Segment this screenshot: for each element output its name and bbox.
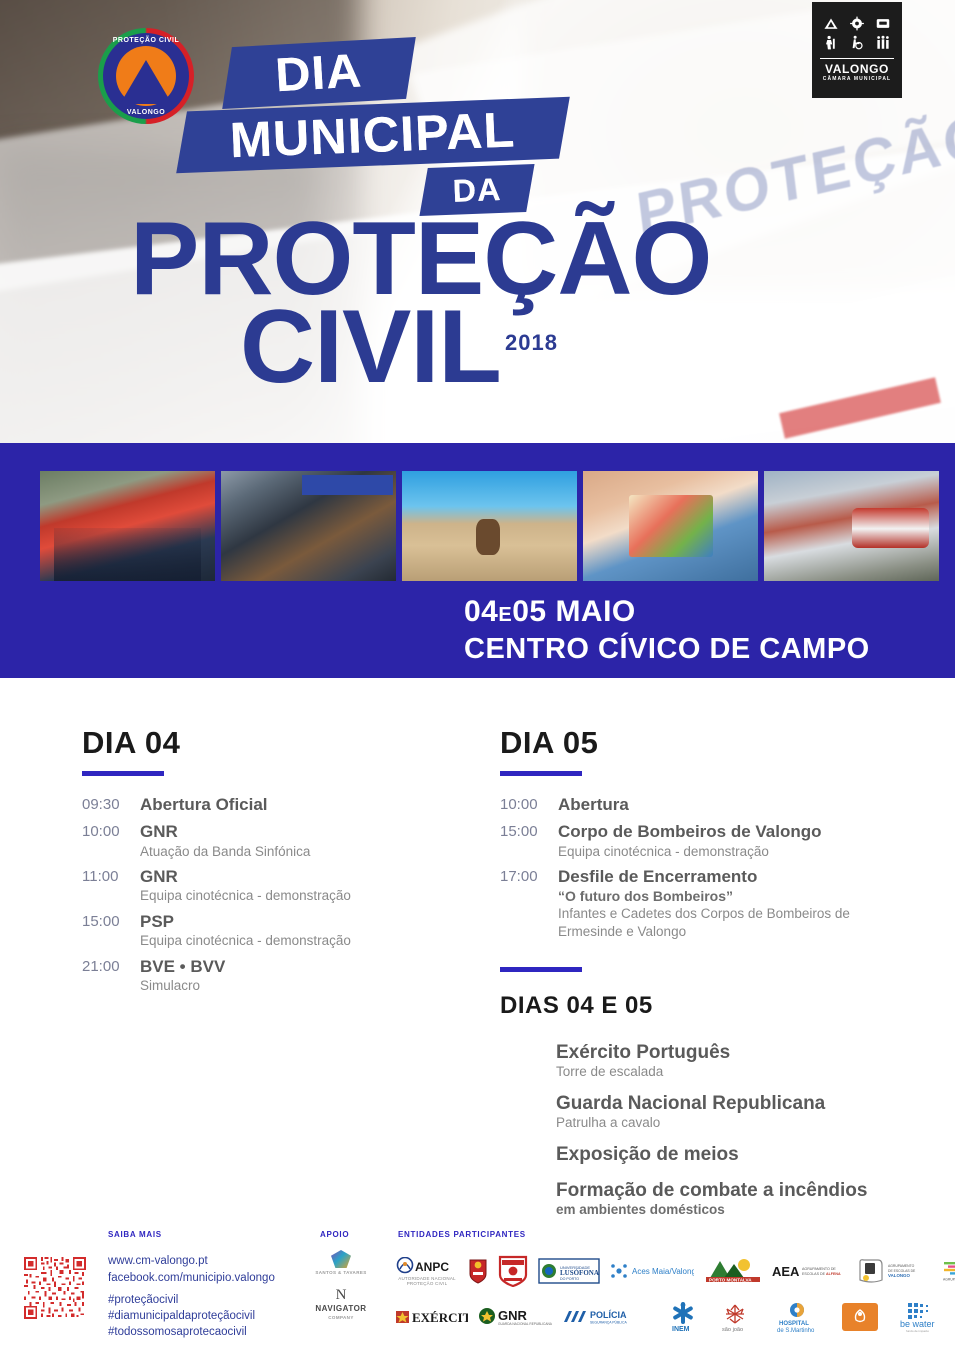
exercito-logo: EXÉRCITO <box>396 1308 468 1326</box>
footer-label-entidades: ENTIDADES PARTICIPANTES <box>398 1230 526 1239</box>
svg-text:de S.Martinho: de S.Martinho <box>777 1328 815 1333</box>
apoio-logo-label: NAVIGATOR <box>305 1304 377 1313</box>
aea-mark: AEA AGRUPAMENTO DE ESCOLAS DE ALFENA <box>772 1263 848 1279</box>
gem-icon <box>331 1250 351 1268</box>
svg-text:be water: be water <box>900 1319 935 1329</box>
valongo-subtitle: CÂMARA MUNICIPAL <box>820 76 894 82</box>
navigator-logo: N NAVIGATOR COMPANY <box>305 1287 377 1320</box>
photo-firefighters-truck <box>40 471 215 581</box>
item-description-cont: Ermesinde e Valongo <box>558 923 920 941</box>
both-days-heading: DIAS 04 E 05 <box>500 992 920 1020</box>
footer-label-apoio: APOIO <box>320 1230 349 1239</box>
title-banner-municipal-text: MUNICIPAL <box>229 101 516 169</box>
apoio-logo-sub: COMPANY <box>305 1315 377 1320</box>
item-time: 09:30 <box>82 794 140 815</box>
schedule-item: 11:00 GNR Equipa cinotécnica - demonstra… <box>82 866 462 905</box>
title-banner-dia-text: DIA <box>274 43 364 102</box>
photo-date-band: 04E05 MAIO CENTRO CÍVICO DE CAMPO <box>0 443 955 678</box>
protecao-civil-logo: PROTEÇÃO CIVIL VALONGO <box>98 28 194 124</box>
svg-text:GUARDA NACIONAL REPUBLICANA: GUARDA NACIONAL REPUBLICANA <box>498 1322 552 1326</box>
aces-mark: Aces Maia/Valongo <box>610 1262 694 1280</box>
event-date: 04E05 MAIO <box>464 595 636 629</box>
entidades-row-1: ANPC AUTORIDADE NACIONAL PROTEÇÃO CIVIL <box>396 1248 951 1294</box>
photo-strip <box>40 471 939 581</box>
valongo-pictogram-grid <box>820 16 894 50</box>
bombeiros-ermesinde-logo <box>498 1255 528 1287</box>
item-description: Equipa cinotécnica - demonstração <box>140 887 462 905</box>
porto-montalva-mark: PORTO MONTALVA <box>704 1256 762 1286</box>
tent-icon <box>822 16 840 31</box>
item-title: Abertura <box>558 794 920 815</box>
svg-text:HOSPITAL: HOSPITAL <box>779 1321 809 1327</box>
item-time: 17:00 <box>500 866 558 941</box>
item-description: Simulacro <box>140 977 462 995</box>
bombeiros-valongo-logo <box>468 1257 488 1285</box>
item-description-quote: “O futuro dos Bombeiros” <box>558 887 920 905</box>
exercito-mark: EXÉRCITO <box>396 1308 468 1326</box>
anpc-mark: ANPC <box>396 1257 458 1275</box>
entidade-sub: AUTORIDADE NACIONAL PROTEÇÃO CIVIL <box>396 1276 458 1286</box>
item-description: Equipa cinotécnica - demonstração <box>140 932 462 950</box>
gnr-logo: GNR GUARDA NACIONAL REPUBLICANA <box>478 1307 552 1327</box>
item-title: GNR <box>140 866 462 887</box>
svg-text:AGRUPAMENTO DE: AGRUPAMENTO DE <box>802 1267 836 1271</box>
item-title: BVE • BVV <box>140 956 462 977</box>
svg-text:AGRUPAMENTO DE ESCOLAS DE CAMP: AGRUPAMENTO DE ESCOLAS DE CAMPO <box>943 1278 955 1282</box>
day05-accent-rule <box>500 771 582 776</box>
svg-text:ANPC: ANPC <box>415 1260 449 1274</box>
schedule-item: 15:00 PSP Equipa cinotécnica - demonstra… <box>82 911 462 950</box>
both-days-item: Formação de combate a incêndios em ambie… <box>556 1180 920 1217</box>
event-location: CENTRO CÍVICO DE CAMPO <box>464 633 870 666</box>
photo-horse-patrol <box>402 471 577 581</box>
aces-maia-valongo-logo: Aces Maia/Valongo <box>610 1262 694 1280</box>
event-date-month: MAIO <box>555 595 635 628</box>
day04-accent-rule <box>82 771 164 776</box>
bombeiros-valongo-mark <box>468 1257 488 1285</box>
day04-heading: DIA 04 <box>82 725 462 761</box>
hashtag-item: #todossomosaprotecaocivil <box>108 1324 255 1340</box>
be-water-mark: be water fundo de impacto <box>892 1301 950 1333</box>
sao-joao-logo: são joão <box>714 1301 756 1333</box>
schedule-item: 17:00 Desfile de Encerramento “O futuro … <box>500 866 920 941</box>
svg-text:Aces Maia/Valongo: Aces Maia/Valongo <box>632 1267 694 1276</box>
footer-links: www.cm-valongo.pt facebook.com/municipio… <box>108 1253 275 1286</box>
svg-text:EXÉRCITO: EXÉRCITO <box>412 1310 468 1325</box>
worker-icon <box>822 35 840 50</box>
item-time: 11:00 <box>82 866 140 905</box>
svg-text:DO PORTO: DO PORTO <box>560 1277 579 1281</box>
svg-text:ESCOLAS DE ALFENA: ESCOLAS DE ALFENA <box>802 1272 841 1276</box>
svg-text:fundo de impacto: fundo de impacto <box>906 1329 929 1333</box>
entidades-logos-grid: ANPC AUTORIDADE NACIONAL PROTEÇÃO CIVIL <box>396 1248 951 1340</box>
wheelchair-icon <box>848 35 866 50</box>
gear-icon <box>848 16 866 31</box>
item-description: Torre de escalada <box>556 1064 920 1079</box>
item-title: Guarda Nacional Republicana <box>556 1093 920 1115</box>
sao-joao-mark: são joão <box>715 1301 755 1333</box>
hospital-s-martinho-logo: HOSPITAL de S.Martinho <box>766 1301 827 1333</box>
agrupamento-escolas-valongo-logo: AGRUPAMENTO DE ESCOLAS DE VALONGO <box>858 1258 930 1284</box>
svg-text:PORTO MONTALVA: PORTO MONTALVA <box>709 1277 752 1282</box>
website-link[interactable]: www.cm-valongo.pt <box>108 1253 275 1270</box>
item-title: Exposição de meios <box>556 1144 920 1166</box>
item-time: 15:00 <box>500 821 558 860</box>
event-date-conjunction: E <box>498 604 512 626</box>
main-title-line2: CIVIL <box>240 300 501 396</box>
aea-logo: AEA AGRUPAMENTO DE ESCOLAS DE ALFENA <box>772 1263 848 1279</box>
apoio-logo-label: SANTOS & TAVARES <box>305 1270 377 1275</box>
universidade-lusofona-logo: UNIVERSIDADE LUSÓFONA DO PORTO <box>538 1258 600 1284</box>
schedule-column-day05: DIA 05 10:00 Abertura 15:00 Corpo de Bom… <box>500 725 920 1231</box>
both-days-item: Exposição de meios <box>556 1144 920 1166</box>
quinta-mark <box>840 1301 880 1333</box>
both-days-accent-rule <box>500 967 582 972</box>
day05-heading: DIA 05 <box>500 725 920 761</box>
both-days-item: Guarda Nacional Republicana Patrulha a c… <box>556 1093 920 1130</box>
event-date-day1: 04 <box>464 595 498 628</box>
photo-police-dogs <box>221 471 396 581</box>
logo-bottom-text: VALONGO <box>98 109 194 116</box>
item-description: em ambientes domésticos <box>556 1202 920 1217</box>
valongo-municipal-badge: VALONGO CÂMARA MUNICIPAL <box>812 2 902 98</box>
facebook-link[interactable]: facebook.com/municipio.valongo <box>108 1270 275 1287</box>
item-description: Infantes e Cadetes dos Corpos de Bombeir… <box>558 905 920 923</box>
item-time: 15:00 <box>82 911 140 950</box>
porto-montalva-logo: PORTO MONTALVA <box>704 1256 762 1286</box>
svg-text:LUSÓFONA: LUSÓFONA <box>560 1269 599 1277</box>
svg-text:GNR: GNR <box>498 1308 528 1323</box>
item-title: Abertura Oficial <box>140 794 462 815</box>
svg-text:SEGURANÇA PÚBLICA: SEGURANÇA PÚBLICA <box>590 1320 627 1325</box>
item-title: Corpo de Bombeiros de Valongo <box>558 821 920 842</box>
lusofona-mark: UNIVERSIDADE LUSÓFONA DO PORTO <box>538 1258 600 1284</box>
item-time: 10:00 <box>82 821 140 860</box>
item-title: Exército Português <box>556 1042 920 1064</box>
both-days-list: Exército Português Torre de escalada Gua… <box>556 1042 920 1217</box>
hero-section: PROTEÇÃO CIVIL PROTEÇÃO CIVIL VALONGO VA… <box>0 0 955 443</box>
footer-hashtags: #proteçãocivil #diamunicipaldaproteçãoci… <box>108 1292 255 1340</box>
camara-santos-logo: SANTOS & TAVARES <box>305 1250 377 1275</box>
item-title: PSP <box>140 911 462 932</box>
item-title: GNR <box>140 821 462 842</box>
valongo-name: VALONGO <box>820 58 894 76</box>
navigator-monogram-icon: N <box>305 1287 377 1304</box>
event-date-day2: 05 <box>512 595 546 628</box>
title-banner-dia: DIA <box>222 37 416 109</box>
policia-mark: POLÍCIA SEGURANÇA PÚBLICA <box>562 1308 652 1326</box>
ae-valongo-mark: AGRUPAMENTO DE ESCOLAS DE VALONGO <box>858 1258 930 1284</box>
people-icon <box>874 35 892 50</box>
schedule-item: 09:30 Abertura Oficial <box>82 794 462 815</box>
schedule-item: 15:00 Corpo de Bombeiros de Valongo Equi… <box>500 821 920 860</box>
svg-text:AGRUPAMENTO: AGRUPAMENTO <box>888 1264 915 1268</box>
item-description: Atuação da Banda Sinfónica <box>140 843 462 861</box>
entidades-row-2: EXÉRCITO GNR GUARDA NACIONAL REPUBLICANA <box>396 1294 951 1340</box>
schedule-item: 21:00 BVE • BVV Simulacro <box>82 956 462 995</box>
svg-text:INEM: INEM <box>672 1326 690 1333</box>
schedule-item: 10:00 GNR Atuação da Banda Sinfónica <box>82 821 462 860</box>
bombeiros-ermesinde-mark <box>498 1255 528 1287</box>
gnr-mark: GNR GUARDA NACIONAL REPUBLICANA <box>478 1307 552 1327</box>
inem-mark: INEM <box>663 1301 703 1333</box>
item-description: Patrulha a cavalo <box>556 1115 920 1130</box>
schedule-column-day04: DIA 04 09:30 Abertura Oficial 10:00 GNR … <box>82 725 462 1000</box>
logo-triangle-icon <box>120 60 172 104</box>
svg-text:POLÍCIA: POLÍCIA <box>590 1310 627 1320</box>
photo-fire-trucks-street <box>764 471 939 581</box>
agrupamento-escolas-campo-logo: AGRUPAMENTO DE ESCOLAS DE CAMPO <box>940 1260 955 1282</box>
item-time: 10:00 <box>500 794 558 815</box>
svg-text:VALONGO: VALONGO <box>888 1273 910 1278</box>
footer-label-saiba-mais: SAIBA MAIS <box>108 1230 162 1239</box>
apoio-logos: SANTOS & TAVARES N NAVIGATOR COMPANY <box>305 1250 377 1320</box>
item-title: Formação de combate a incêndios <box>556 1180 920 1202</box>
main-title-year: 2018 <box>505 330 558 356</box>
svg-text:são joão: são joão <box>722 1327 743 1333</box>
both-days-item: Exército Português Torre de escalada <box>556 1042 920 1079</box>
quinta-logo <box>838 1301 882 1333</box>
schedule-item: 10:00 Abertura <box>500 794 920 815</box>
be-water-logo: be water fundo de impacto <box>892 1301 951 1333</box>
policia-logo: POLÍCIA SEGURANÇA PÚBLICA <box>562 1308 652 1326</box>
poster: PROTEÇÃO CIVIL PROTEÇÃO CIVIL VALONGO VA… <box>0 0 955 1350</box>
ae-campo-mark: AGRUPAMENTO DE ESCOLAS DE CAMPO <box>940 1260 955 1282</box>
hashtag-item: #proteçãocivil <box>108 1292 255 1308</box>
hashtag-item: #diamunicipaldaproteçãocivil <box>108 1308 255 1324</box>
schedule-section: DIA 04 09:30 Abertura Oficial 10:00 GNR … <box>0 700 955 1220</box>
inem-logo: INEM <box>662 1301 704 1333</box>
anpc-logo: ANPC AUTORIDADE NACIONAL PROTEÇÃO CIVIL <box>396 1257 458 1286</box>
svg-text:AEA: AEA <box>772 1264 800 1279</box>
item-time: 21:00 <box>82 956 140 995</box>
qr-code-icon[interactable] <box>24 1257 86 1319</box>
item-description: Equipa cinotécnica - demonstração <box>558 843 920 861</box>
item-title: Desfile de Encerramento <box>558 866 920 887</box>
screen-icon <box>874 16 892 31</box>
photo-hand-card <box>583 471 758 581</box>
logo-top-text: PROTEÇÃO CIVIL <box>98 37 194 44</box>
hospital-martinho-mark: HOSPITAL de S.Martinho <box>767 1301 827 1333</box>
